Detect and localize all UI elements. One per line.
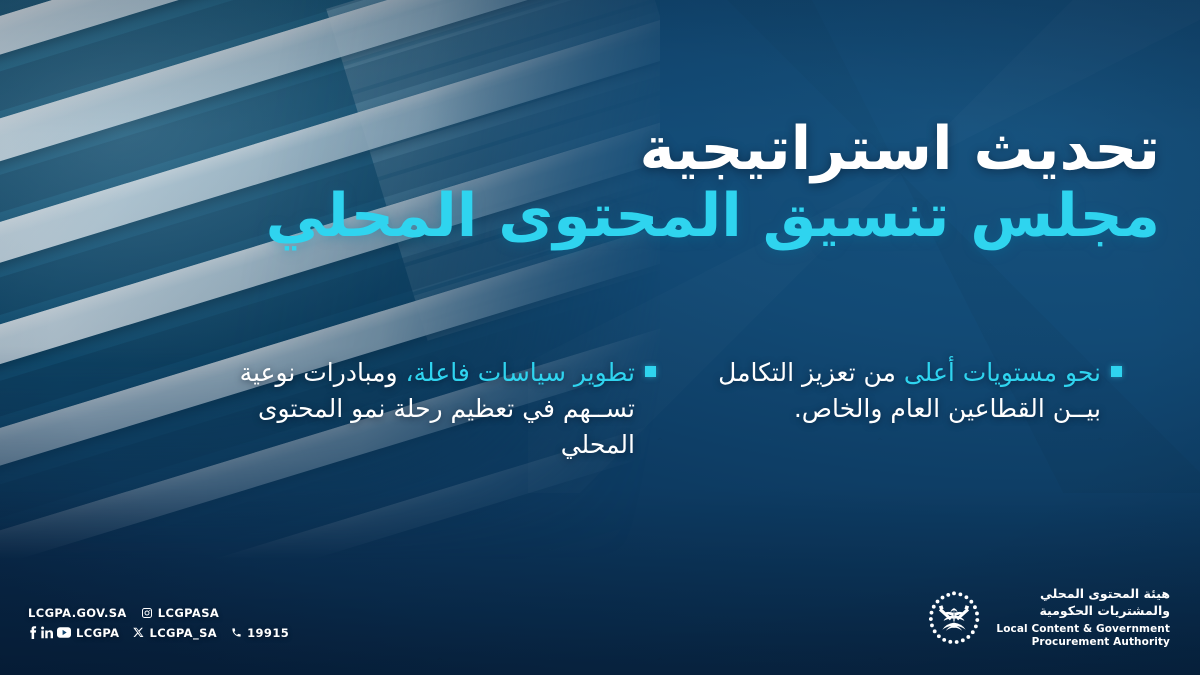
youtube-icon[interactable] [57, 627, 71, 638]
bullet-item-2: تطوير سياسات فاعلة، ومبادرات نوعية تســه… [236, 355, 656, 463]
x-twitter-item[interactable]: LCGPA_SA [133, 623, 217, 643]
logo-english-line-1: Local Content & Government [996, 623, 1170, 636]
bullet-item-1: نحو مستويات أعلى من تعزيز التكامل بيــن … [702, 355, 1122, 463]
website-link[interactable]: LCGPA.GOV.SA [28, 603, 127, 623]
instagram-handle: LCGPASA [158, 603, 219, 623]
bullet-list: نحو مستويات أعلى من تعزيز التكامل بيــن … [0, 355, 1200, 463]
bullet-item-2-text: تطوير سياسات فاعلة، ومبادرات نوعية تســه… [236, 355, 635, 463]
headline: تحديث استراتيجية مجلس تنسيق المحتوى المح… [70, 118, 1160, 251]
logo-arabic-line-2: والمشتريات الحكومية [996, 603, 1170, 620]
logo-arabic-line-1: هيئة المحتوى المحلي [996, 586, 1170, 603]
social-icon-group [28, 626, 71, 639]
instagram-icon [141, 607, 153, 619]
logo-english-line-2: Procurement Authority [996, 636, 1170, 649]
contact-footer: LCGPA.GOV.SA LCGPASA [28, 603, 289, 643]
x-handle: LCGPA_SA [149, 623, 217, 643]
vignette-overlay [0, 0, 1200, 675]
headline-line-2: مجلس تنسيق المحتوى المحلي [70, 182, 1160, 252]
phone-item[interactable]: 19915 [231, 623, 289, 643]
instagram-item[interactable]: LCGPASA [141, 603, 219, 623]
social-handles-group[interactable]: LCGPA [28, 623, 119, 643]
headline-line-1: تحديث استراتيجية [70, 118, 1160, 182]
logo-wordmark: هيئة المحتوى المحلي والمشتريات الحكومية … [996, 586, 1170, 649]
contact-row-2: LCGPA LCGPA_SA 19915 [28, 623, 289, 643]
square-bullet-icon [1111, 366, 1122, 377]
square-bullet-icon [645, 366, 656, 377]
facebook-icon[interactable] [28, 626, 37, 639]
phone-icon [231, 627, 242, 638]
social-handle: LCGPA [76, 623, 119, 643]
bullet-item-1-highlight: نحو مستويات أعلى [904, 358, 1101, 387]
bullet-item-1-text: نحو مستويات أعلى من تعزيز التكامل بيــن … [702, 355, 1101, 427]
x-twitter-icon [133, 627, 144, 638]
bullet-item-2-highlight: تطوير سياسات فاعلة، [406, 358, 635, 387]
contact-row-1: LCGPA.GOV.SA LCGPASA [28, 603, 289, 623]
linkedin-icon[interactable] [41, 626, 53, 639]
banner-canvas: تحديث استراتيجية مجلس تنسيق المحتوى المح… [0, 0, 1200, 675]
authority-logo: هيئة المحتوى المحلي والمشتريات الحكومية … [925, 586, 1170, 649]
saudi-palm-swords-emblem-icon [925, 589, 983, 647]
phone-number: 19915 [247, 623, 289, 643]
